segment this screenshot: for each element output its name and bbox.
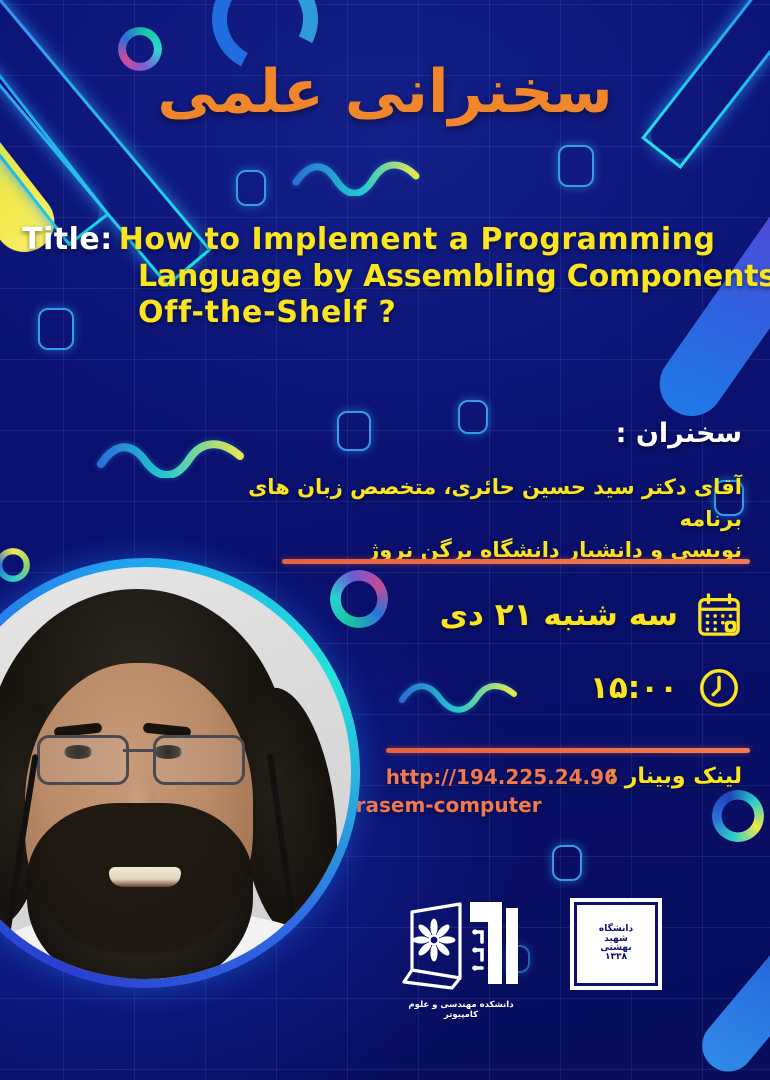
university-logo-text: دانشگاه شهید بهشتی ۱۳۳۸ bbox=[599, 925, 633, 963]
portrait-lens-right bbox=[153, 735, 245, 785]
university-founding-year: ۱۳۳۸ bbox=[599, 953, 633, 962]
faculty-logo: دانشکده مهندسی و علوم کامپیوتر bbox=[396, 898, 526, 1020]
rounded-square-3-decoration bbox=[558, 145, 594, 187]
divider-rule-bottom bbox=[386, 748, 750, 753]
speaker-portrait bbox=[0, 558, 360, 988]
divider-rule-top bbox=[282, 559, 750, 564]
lecture-title-block: Title:How to Implement a Programming Lan… bbox=[22, 222, 748, 332]
faculty-logo-caption: دانشکده مهندسی و علوم کامپیوتر bbox=[396, 1000, 526, 1020]
university-logo-inner: دانشگاه شهید بهشتی ۱۳۳۸ bbox=[570, 898, 662, 990]
title-text-line-1: How to Implement a Programming bbox=[119, 222, 716, 257]
portrait-mouth bbox=[109, 867, 181, 887]
portrait-glasses bbox=[37, 735, 245, 781]
portrait-glasses-bridge bbox=[123, 749, 159, 752]
speaker-name-block: آقای دکتر سید حسین حائری، متخصص زبان های… bbox=[222, 472, 742, 567]
gradient-donut-3-decoration bbox=[712, 790, 764, 842]
lecture-title-line-3: Off-the-Shelf ? bbox=[22, 295, 748, 332]
speaker-name-line-1: آقای دکتر سید حسین حائری، متخصص زبان های… bbox=[222, 472, 742, 535]
poster-header-title: سخنرانی علمی bbox=[0, 62, 770, 122]
portrait-lens-left bbox=[37, 735, 129, 785]
capsule-neon-outline-1-decoration bbox=[0, 0, 110, 246]
rounded-square-4-decoration bbox=[337, 411, 371, 451]
title-label: Title: bbox=[22, 222, 113, 257]
gradient-donut-2-decoration bbox=[330, 570, 388, 628]
portrait-beard bbox=[27, 803, 253, 979]
gradient-donut-4-decoration bbox=[0, 548, 30, 582]
speaker-section-label: سخنران : bbox=[616, 418, 742, 449]
rounded-square-1-decoration bbox=[236, 170, 266, 206]
lecture-title-line-2: Language by Assembling Components bbox=[22, 259, 748, 296]
poster-canvas: سخنرانی علمی Title:How to Implement a Pr… bbox=[0, 0, 770, 1080]
university-logo-frame: دانشگاه شهید بهشتی ۱۳۳۸ bbox=[574, 902, 658, 986]
event-date-text: سه شنبه ۲۱ دی bbox=[440, 597, 678, 633]
squiggle-3-decoration bbox=[398, 678, 518, 714]
faculty-monitor-icon bbox=[396, 898, 526, 994]
clock-icon bbox=[696, 665, 742, 711]
lecture-title-line-1: Title:How to Implement a Programming bbox=[22, 222, 748, 259]
webinar-link-label: لینک وبینار : bbox=[608, 764, 742, 789]
webinar-url-line-1: http://194.225.24.96 bbox=[386, 765, 618, 789]
speaker-portrait-image bbox=[0, 567, 351, 979]
rounded-square-5-decoration bbox=[458, 400, 488, 434]
event-date-row: سه شنبه ۲۱ دی bbox=[440, 592, 742, 638]
event-time-text: ۱۵:۰۰ bbox=[590, 670, 678, 706]
logo-row: دانشکده مهندسی و علوم کامپیوتر دانشگاه ش… bbox=[396, 898, 726, 1028]
rounded-square-7-decoration bbox=[552, 845, 582, 881]
university-logo: دانشگاه شهید بهشتی ۱۳۳۸ bbox=[570, 898, 662, 990]
squiggle-1-decoration bbox=[292, 160, 422, 196]
calendar-icon bbox=[696, 592, 742, 638]
event-time-row: ۱۵:۰۰ bbox=[590, 665, 742, 711]
